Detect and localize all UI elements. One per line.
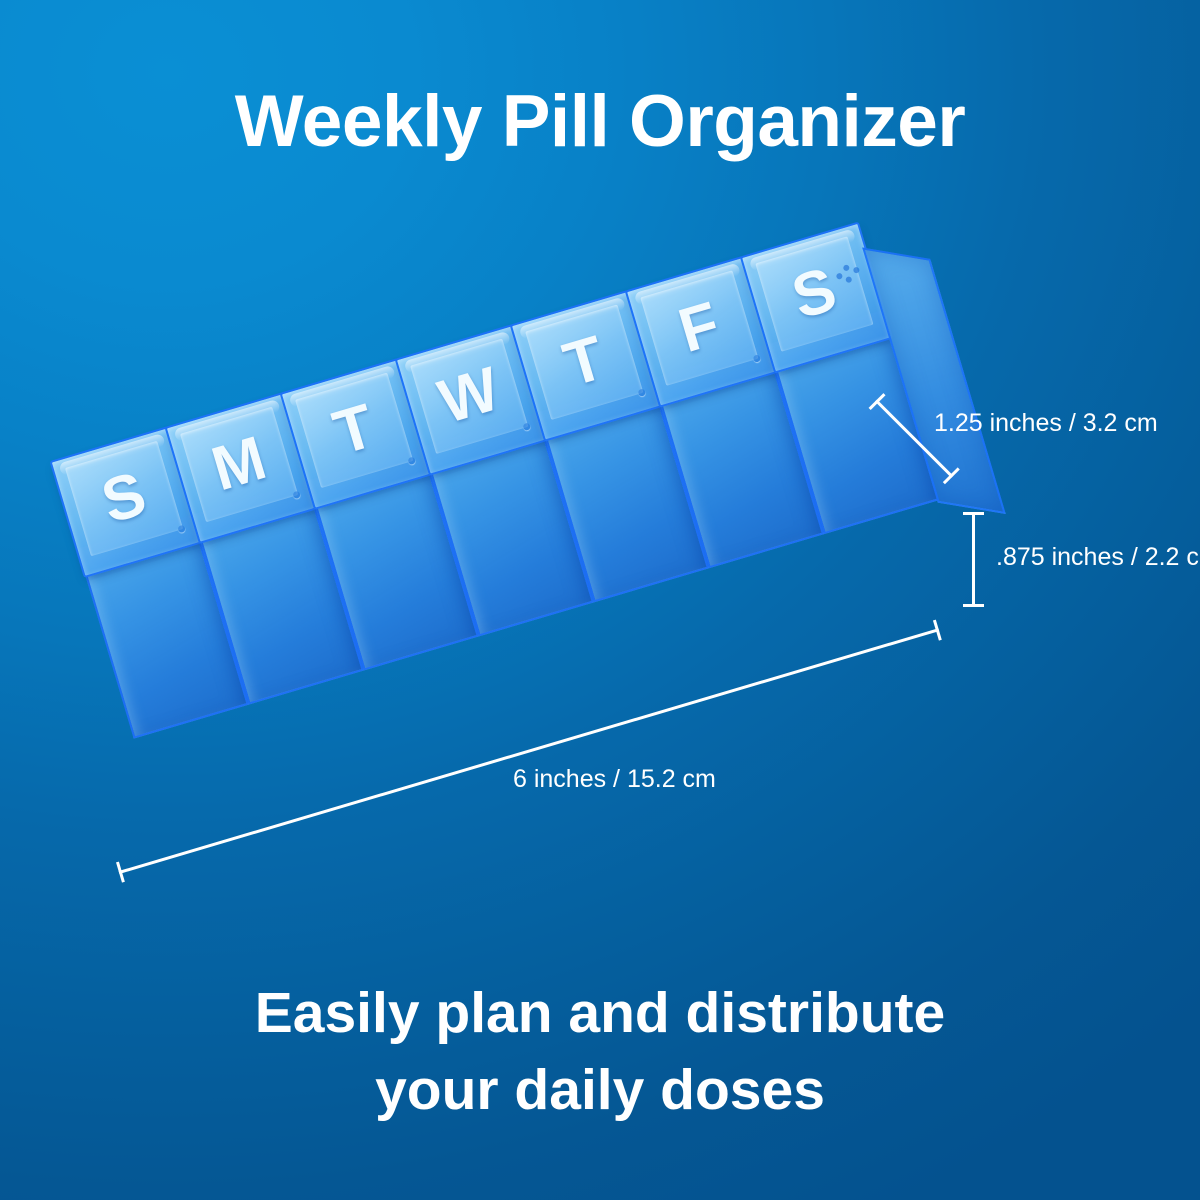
lid-dimple-icon	[753, 354, 762, 363]
tagline-line-2: your daily doses	[0, 1052, 1200, 1129]
depth-dimension-label: 1.25 inches / 3.2 cm	[934, 409, 1158, 438]
page-title: Weekly Pill Organizer	[0, 84, 1200, 161]
lid-dimple-icon	[177, 525, 186, 534]
lid-dimple-icon	[522, 422, 531, 431]
height-dimension-line	[972, 512, 975, 607]
height-dimension-label: .875 inches / 2.2 cm	[996, 543, 1200, 572]
lid-dimple-icon	[292, 490, 301, 499]
lid-dimple-icon	[407, 456, 416, 465]
product-infographic: Weekly Pill Organizer S M	[0, 0, 1200, 1200]
tagline-line-1: Easily plan and distribute	[0, 975, 1200, 1052]
tagline: Easily plan and distribute your daily do…	[0, 975, 1200, 1129]
length-dimension-label: 6 inches / 15.2 cm	[513, 765, 716, 794]
lid-dimple-icon	[637, 388, 646, 397]
